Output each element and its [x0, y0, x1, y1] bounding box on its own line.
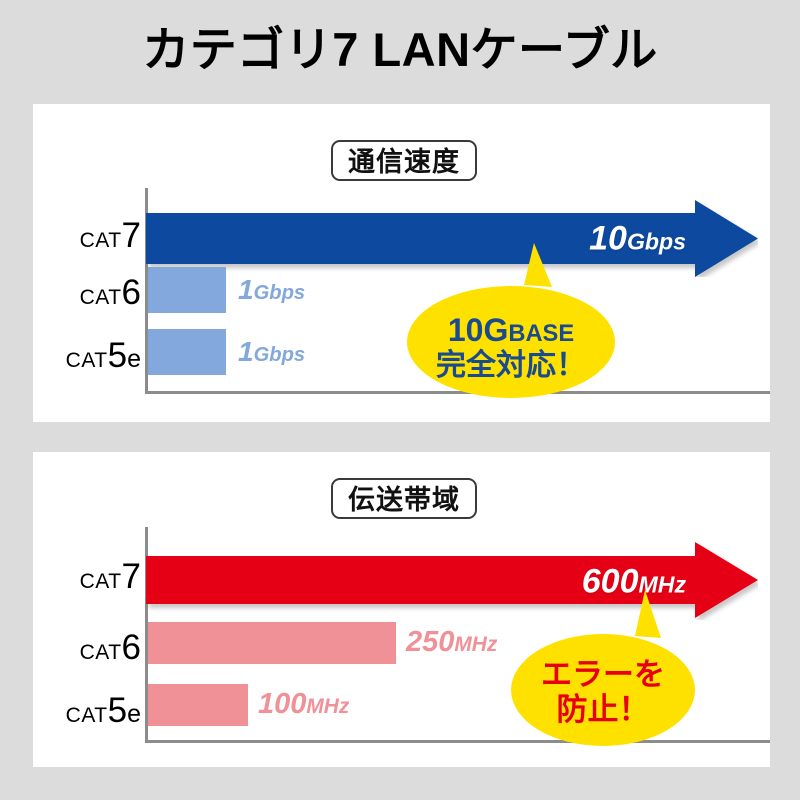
bar-cat6-speed	[148, 267, 226, 313]
row-label-number: 7	[122, 216, 141, 255]
bar-cat5e-band	[148, 684, 248, 726]
row-label-prefix: CAT	[80, 229, 122, 252]
row-label-number: 6	[122, 628, 141, 667]
callout-10gbase: 10GBASE 完全対応！	[406, 239, 616, 399]
row-label-cat6-band: CAT6	[33, 628, 141, 668]
bar-value-cat6-band: 250MHz	[406, 626, 497, 659]
row-label-cat6-speed: CAT6	[33, 273, 141, 313]
callout-error-prevention: エラーを 防止！	[503, 590, 703, 748]
bar-cat5e-speed	[148, 329, 226, 375]
row-label-number: 5	[108, 336, 127, 375]
callout-error-prevention-text: エラーを 防止！	[503, 658, 703, 727]
row-label-suffix: e	[127, 345, 141, 373]
callout-line-1: 10GBASE	[406, 313, 616, 349]
section-heading-bandwidth: 伝送帯域	[331, 478, 477, 519]
row-label-cat5e-band: CAT5e	[33, 691, 141, 731]
section-heading-speed: 通信速度	[331, 140, 477, 181]
bar-value-number: 1	[238, 336, 254, 367]
callout-line-2: 防止！	[503, 693, 703, 728]
callout-10gbase-text: 10GBASE 完全対応！	[406, 313, 616, 382]
bar-value-number: 1	[238, 274, 254, 305]
callout-line-1-main: 10G	[448, 312, 508, 348]
row-label-prefix: CAT	[80, 641, 122, 664]
bar-value-cat6-speed: 1Gbps	[238, 274, 305, 306]
bar-value-number: 250	[406, 626, 454, 658]
panel-transmission-bandwidth: 伝送帯域 CAT7 600MHz CAT6 250MHz CAT5e 100MH…	[33, 452, 770, 767]
bar-value-unit: MHz	[454, 633, 497, 656]
row-label-number: 5	[108, 691, 127, 730]
row-label-cat5e-speed: CAT5e	[33, 336, 141, 376]
row-label-prefix: CAT	[66, 704, 108, 727]
row-label-prefix: CAT	[66, 349, 108, 372]
callout-line-1-small: BASE	[508, 321, 574, 347]
row-label-prefix: CAT	[80, 286, 122, 309]
page-title: カテゴリ7 LANケーブル	[0, 22, 800, 78]
bar-value-unit: Gbps	[254, 344, 306, 366]
bar-cat6-band	[148, 622, 396, 664]
row-label-suffix: e	[127, 700, 141, 728]
row-label-cat7-band: CAT7	[33, 557, 141, 597]
row-label-number: 6	[122, 273, 141, 312]
callout-line-2: 完全対応！	[406, 349, 616, 383]
panel-communication-speed: 通信速度 CAT7 10Gbps CAT6 1Gbps CAT5e 1Gbps	[33, 104, 770, 422]
bar-value-number: 100	[258, 688, 306, 720]
row-label-cat7-speed: CAT7	[33, 216, 141, 256]
bar-value-unit: MHz	[306, 695, 349, 718]
bar-value-cat5e-band: 100MHz	[258, 688, 349, 721]
bar-value-unit: Gbps	[627, 228, 686, 254]
row-label-number: 7	[122, 557, 141, 596]
callout-line-1: エラーを	[503, 658, 703, 693]
bar-value-cat5e-speed: 1Gbps	[238, 336, 305, 368]
bar-value-unit: Gbps	[254, 282, 306, 304]
row-label-prefix: CAT	[80, 570, 122, 593]
